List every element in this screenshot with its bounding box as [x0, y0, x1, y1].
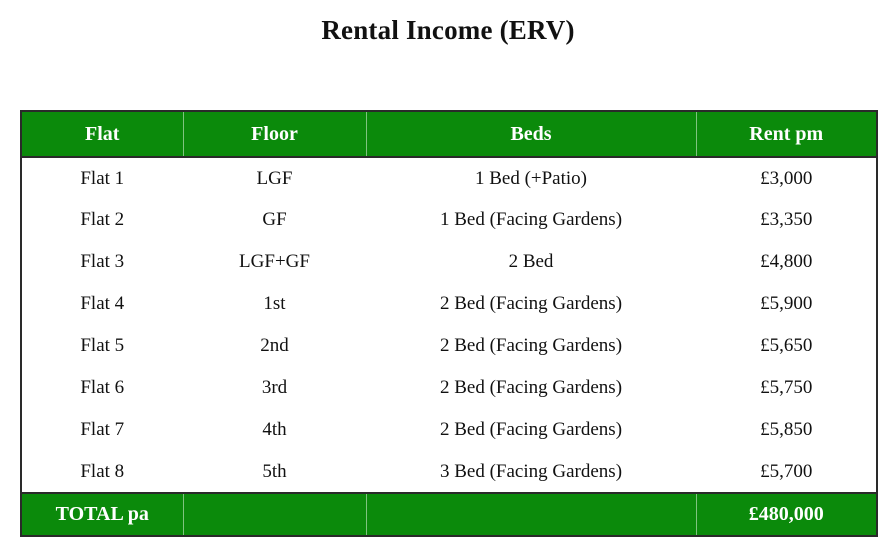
- table-row: Flat 5 2nd 2 Bed (Facing Gardens) £5,650: [21, 325, 877, 367]
- cell-beds: 1 Bed (Facing Gardens): [366, 199, 696, 241]
- cell-flat: Flat 5: [21, 325, 183, 367]
- table-row: Flat 2 GF 1 Bed (Facing Gardens) £3,350: [21, 199, 877, 241]
- table-body: Flat 1 LGF 1 Bed (+Patio) £3,000 Flat 2 …: [21, 157, 877, 493]
- cell-floor: GF: [183, 199, 366, 241]
- cell-floor: 4th: [183, 409, 366, 451]
- cell-rent: £5,850: [696, 409, 877, 451]
- cell-beds: 2 Bed (Facing Gardens): [366, 367, 696, 409]
- cell-beds: 2 Bed (Facing Gardens): [366, 325, 696, 367]
- table-row: Flat 3 LGF+GF 2 Bed £4,800: [21, 241, 877, 283]
- column-header-floor: Floor: [183, 111, 366, 157]
- cell-beds: 2 Bed (Facing Gardens): [366, 283, 696, 325]
- total-beds-spacer: [366, 493, 696, 536]
- total-label: TOTAL pa: [21, 493, 183, 536]
- cell-beds: 1 Bed (+Patio): [366, 157, 696, 199]
- table-header-row: Flat Floor Beds Rent pm: [21, 111, 877, 157]
- cell-flat: Flat 6: [21, 367, 183, 409]
- table-foot: TOTAL pa £480,000: [21, 493, 877, 536]
- table-row: Flat 1 LGF 1 Bed (+Patio) £3,000: [21, 157, 877, 199]
- column-header-rent: Rent pm: [696, 111, 877, 157]
- column-header-flat: Flat: [21, 111, 183, 157]
- total-row: TOTAL pa £480,000: [21, 493, 877, 536]
- cell-flat: Flat 4: [21, 283, 183, 325]
- total-floor-spacer: [183, 493, 366, 536]
- cell-floor: 2nd: [183, 325, 366, 367]
- cell-flat: Flat 1: [21, 157, 183, 199]
- cell-floor: LGF: [183, 157, 366, 199]
- cell-floor: 1st: [183, 283, 366, 325]
- table-row: Flat 8 5th 3 Bed (Facing Gardens) £5,700: [21, 451, 877, 493]
- cell-beds: 3 Bed (Facing Gardens): [366, 451, 696, 493]
- cell-rent: £5,750: [696, 367, 877, 409]
- cell-floor: 3rd: [183, 367, 366, 409]
- cell-beds: 2 Bed: [366, 241, 696, 283]
- cell-rent: £5,900: [696, 283, 877, 325]
- cell-rent: £4,800: [696, 241, 877, 283]
- cell-beds: 2 Bed (Facing Gardens): [366, 409, 696, 451]
- rent-table-container: Flat Floor Beds Rent pm Flat 1 LGF 1 Bed…: [20, 110, 876, 537]
- cell-rent: £5,700: [696, 451, 877, 493]
- cell-flat: Flat 7: [21, 409, 183, 451]
- cell-rent: £5,650: [696, 325, 877, 367]
- cell-floor: LGF+GF: [183, 241, 366, 283]
- cell-flat: Flat 8: [21, 451, 183, 493]
- page-title: Rental Income (ERV): [0, 13, 896, 47]
- table-row: Flat 7 4th 2 Bed (Facing Gardens) £5,850: [21, 409, 877, 451]
- table-row: Flat 6 3rd 2 Bed (Facing Gardens) £5,750: [21, 367, 877, 409]
- table-head: Flat Floor Beds Rent pm: [21, 111, 877, 157]
- total-value: £480,000: [696, 493, 877, 536]
- cell-rent: £3,350: [696, 199, 877, 241]
- cell-flat: Flat 2: [21, 199, 183, 241]
- cell-floor: 5th: [183, 451, 366, 493]
- rental-income-page: Rental Income (ERV) Flat Floor Beds Rent…: [0, 0, 896, 547]
- cell-rent: £3,000: [696, 157, 877, 199]
- column-header-beds: Beds: [366, 111, 696, 157]
- table-row: Flat 4 1st 2 Bed (Facing Gardens) £5,900: [21, 283, 877, 325]
- rental-income-table: Flat Floor Beds Rent pm Flat 1 LGF 1 Bed…: [20, 110, 878, 537]
- cell-flat: Flat 3: [21, 241, 183, 283]
